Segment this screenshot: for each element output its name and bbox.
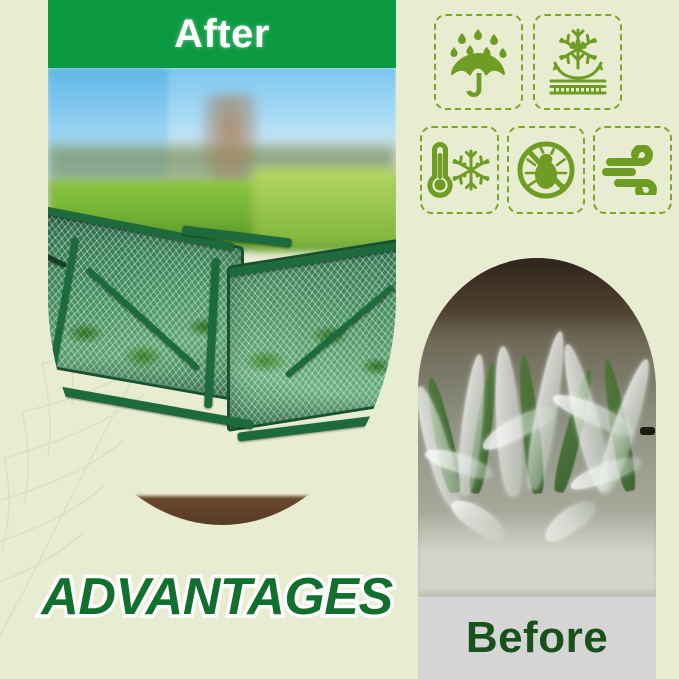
dash-mark xyxy=(640,427,655,435)
advantages-label: ADVANTAGES xyxy=(41,567,392,627)
before-panel: Before xyxy=(418,258,656,679)
after-banner: After xyxy=(48,0,396,68)
before-band: Before xyxy=(418,597,656,679)
thermometer-snowflake-icon xyxy=(426,139,492,201)
soil-speck xyxy=(282,518,312,525)
feature-icon-grid xyxy=(420,14,672,240)
after-photo xyxy=(48,68,396,525)
icon-box-rain-umbrella[interactable] xyxy=(434,14,523,110)
blurred-background-figure xyxy=(203,94,257,190)
crop-row-inside xyxy=(48,282,396,410)
after-label: After xyxy=(174,12,270,57)
icon-box-thermometer-snowflake[interactable] xyxy=(420,126,499,214)
icon-box-wind[interactable] xyxy=(593,126,672,214)
advantages-headline: ADVANTAGES xyxy=(22,566,412,628)
snow-covered-ground xyxy=(418,511,656,591)
snow-insulation-icon xyxy=(543,27,613,97)
icon-box-no-pest[interactable] xyxy=(507,126,586,214)
greenhouse-structure xyxy=(48,196,396,456)
no-pest-icon xyxy=(515,139,577,201)
icon-box-snow-insulation[interactable] xyxy=(533,14,622,110)
icon-row-2 xyxy=(420,126,672,214)
soil-speck xyxy=(92,512,126,524)
wind-icon xyxy=(602,145,664,195)
infographic-canvas: After xyxy=(0,0,679,679)
dark-soil-backdrop xyxy=(418,258,656,328)
rain-umbrella-icon xyxy=(446,27,512,97)
before-label: Before xyxy=(466,613,608,663)
icon-row-1 xyxy=(434,14,672,110)
after-panel: After xyxy=(48,0,396,525)
